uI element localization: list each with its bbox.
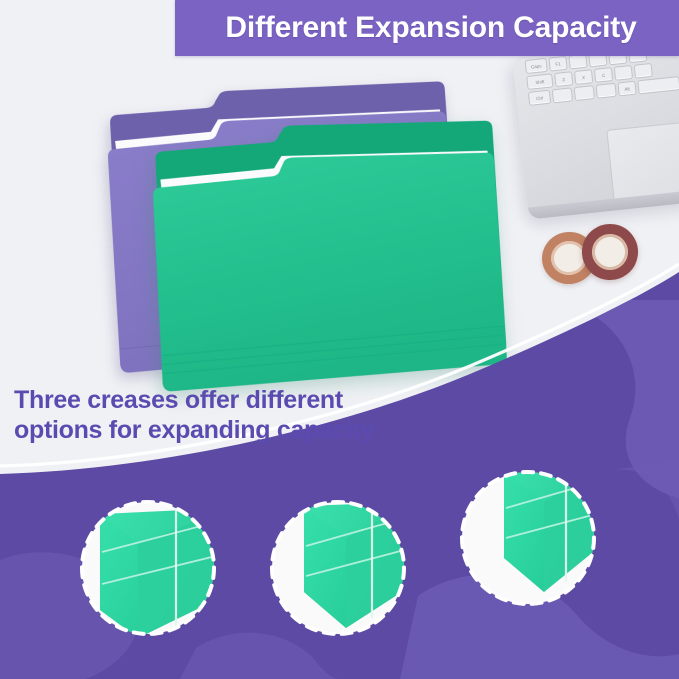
crease-option-wide-circle[interactable] [72, 492, 224, 644]
crease-option-medium-circle[interactable] [262, 492, 414, 644]
crease-option-narrow-circle[interactable] [452, 462, 604, 614]
infographic-canvas: Caps F1 Shift Z X C Ctrl Alt [0, 0, 679, 679]
header-banner: Different Expansion Capacity [175, 0, 679, 56]
crease-circles-layer [0, 0, 679, 679]
page-title: Different Expansion Capacity [225, 11, 636, 45]
circle-wide-clip-group [100, 506, 224, 638]
crease-wide-illustration [72, 492, 224, 644]
crease-narrow-illustration [452, 462, 604, 614]
crease-medium-illustration [262, 492, 414, 644]
